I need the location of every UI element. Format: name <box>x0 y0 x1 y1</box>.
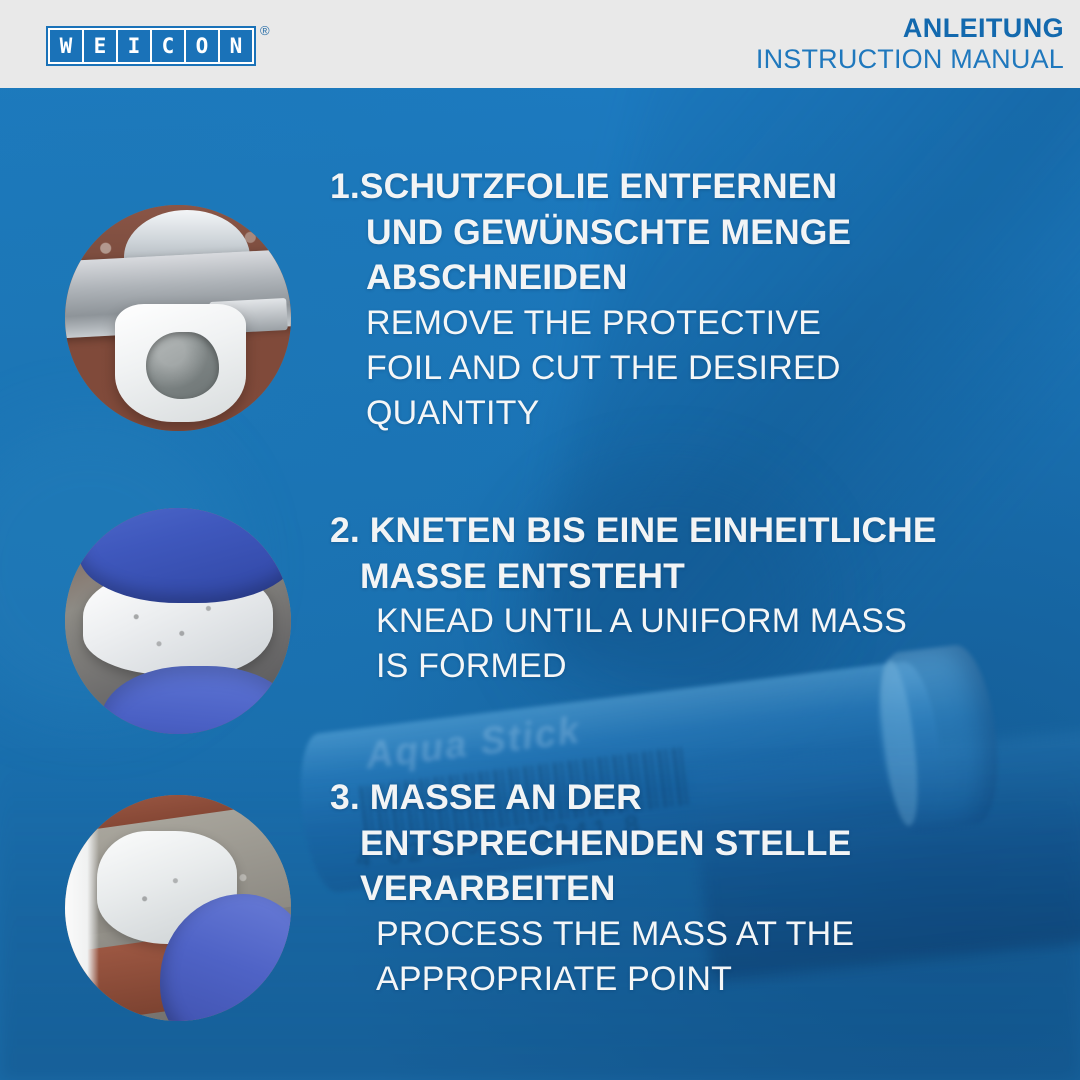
header-title-en: INSTRUCTION MANUAL <box>756 44 1064 74</box>
step-2-en-line-2: IS FORMED <box>330 644 1050 689</box>
instruction-manual-poster: W E I C O N ® ANLEITUNG INSTRUCTION MANU… <box>0 0 1080 1080</box>
step-3-en-line-2: APPROPRIATE POINT <box>330 957 1030 1002</box>
step-1-en-line-2: FOIL AND CUT THE DESIRED <box>330 346 1030 391</box>
step-1-de-line-3: ABSCHNEIDEN <box>330 255 1030 301</box>
photo-2-upper-glove <box>79 508 291 603</box>
step-1-de-line-2: UND GEWÜNSCHTE MENGE <box>330 210 1030 256</box>
logo-letter-i: I <box>118 30 150 62</box>
step-1-photo <box>65 205 291 431</box>
step-3-photo <box>65 795 291 1021</box>
step-2-photo <box>65 508 291 734</box>
photo-3-white-edge <box>65 800 99 1021</box>
step-2-text: 2. KNETEN BIS EINE EINHEITLICHE MASSE EN… <box>330 508 1050 690</box>
weicon-logo: W E I C O N <box>46 26 256 66</box>
step-1-en-line-3: QUANTITY <box>330 391 1030 436</box>
header-title-group: ANLEITUNG INSTRUCTION MANUAL <box>756 14 1064 74</box>
step-3-text: 3. MASSE AN DER ENTSPRECHENDEN STELLE VE… <box>330 775 1030 1002</box>
step-3-de-line-1: 3. MASSE AN DER <box>330 775 1030 821</box>
logo-letter-w: W <box>50 30 82 62</box>
step-3-en-line-1: PROCESS THE MASS AT THE <box>330 912 1030 957</box>
steps-container: 1.SCHUTZFOLIE ENTFERNEN UND GEWÜNSCHTE M… <box>0 0 1080 1080</box>
step-2-de-line-2: MASSE ENTSTEHT <box>330 554 1050 600</box>
step-1-de-line-1: 1.SCHUTZFOLIE ENTFERNEN <box>330 164 1030 210</box>
photo-1-putty-core <box>146 332 218 400</box>
logo-letter-c: C <box>152 30 184 62</box>
logo-letter-o: O <box>186 30 218 62</box>
page-header: W E I C O N ® ANLEITUNG INSTRUCTION MANU… <box>0 0 1080 88</box>
step-2-de-line-1: 2. KNETEN BIS EINE EINHEITLICHE <box>330 508 1050 554</box>
step-1-text: 1.SCHUTZFOLIE ENTFERNEN UND GEWÜNSCHTE M… <box>330 164 1030 436</box>
header-title-de: ANLEITUNG <box>756 14 1064 43</box>
logo-letter-n: N <box>220 30 252 62</box>
step-3-de-line-3: VERARBEITEN <box>330 866 1030 912</box>
step-1-en-line-1: REMOVE THE PROTECTIVE <box>330 301 1030 346</box>
step-3-de-line-2: ENTSPRECHENDEN STELLE <box>330 821 1030 867</box>
step-2-en-line-1: KNEAD UNTIL A UNIFORM MASS <box>330 599 1050 644</box>
registered-trademark-icon: ® <box>260 23 270 38</box>
logo-letter-e: E <box>84 30 116 62</box>
